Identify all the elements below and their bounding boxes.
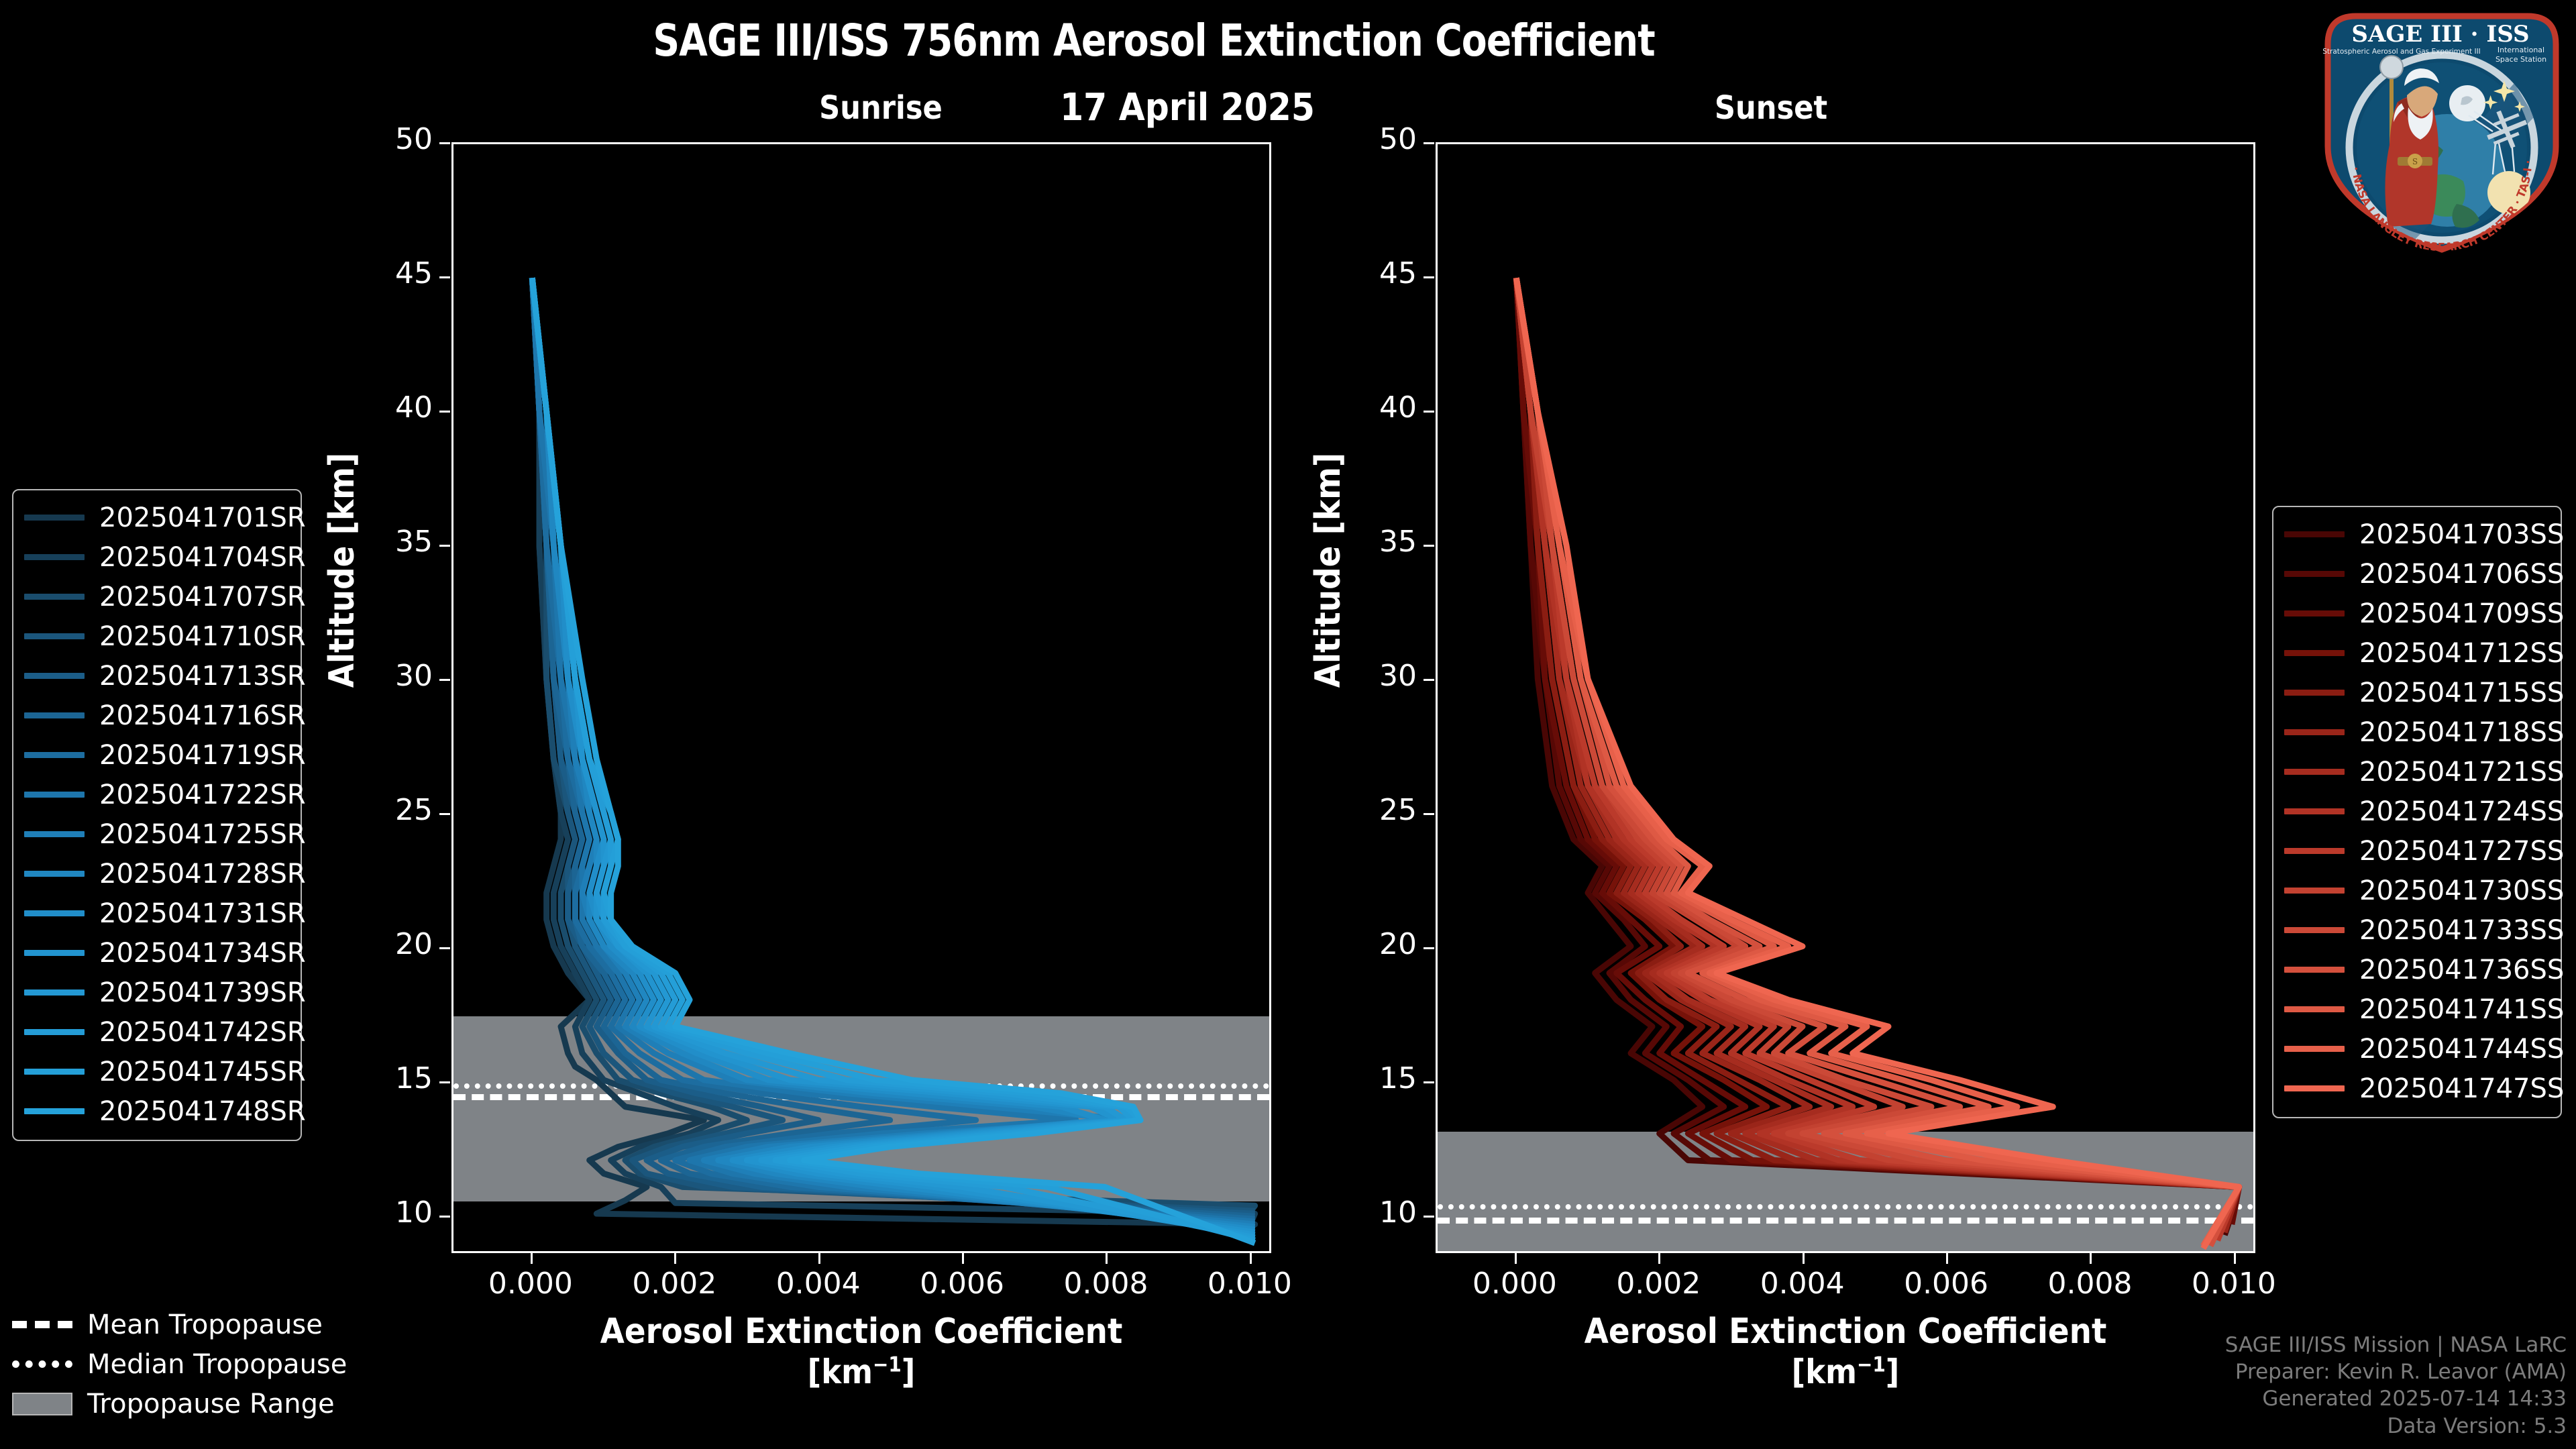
legend-item-tropopause-range: Tropopause Range [12, 1384, 361, 1424]
x-axis-tick-mark [1946, 1253, 1948, 1264]
legend-item-2025041742SR[interactable]: 2025041742SR [24, 1012, 290, 1052]
y-axis-tick-mark [439, 411, 450, 413]
x-axis-tick-mark [2090, 1253, 2092, 1264]
x-axis-tick-label: 0.008 [1032, 1267, 1179, 1301]
y-axis-tick-mark [1424, 142, 1434, 144]
x-axis-tick-label: 0.010 [1176, 1267, 1324, 1301]
y-axis-tick-label: 35 [1316, 525, 1417, 559]
y-axis-tick-mark [439, 1216, 450, 1218]
legend-item-2025041704SR[interactable]: 2025041704SR [24, 537, 290, 577]
profile-curves-sunset [1438, 144, 2253, 1251]
plot-area-sunset [1436, 142, 2255, 1253]
legend-item-2025041745SR[interactable]: 2025041745SR [24, 1052, 290, 1091]
patch-subtitle-right-line2: Space Station [2495, 55, 2546, 64]
y-axis-tick-label: 40 [332, 390, 433, 425]
x-axis-tick-label: 0.000 [457, 1267, 604, 1301]
legend-item-mean-tropopause: Mean Tropopause [12, 1305, 361, 1344]
line-color-swatch-icon [2284, 1085, 2345, 1091]
legend-item-2025041748SR[interactable]: 2025041748SR [24, 1091, 290, 1131]
legend-item-2025041701SR[interactable]: 2025041701SR [24, 498, 290, 537]
legend-label: 2025041713SR [99, 661, 306, 692]
plot-area-sunrise [451, 142, 1271, 1253]
credit-line-preparer: Preparer: Kevin R. Leavor (AMA) [2225, 1358, 2567, 1385]
x-axis-tick-mark [2234, 1253, 2236, 1264]
x-axis-tick-mark [1803, 1253, 1805, 1264]
legend-label: 2025041748SR [99, 1096, 306, 1127]
line-color-swatch-icon [24, 1029, 85, 1035]
y-axis-tick-mark [439, 545, 450, 547]
line-color-swatch-icon [24, 871, 85, 877]
line-color-swatch-icon [24, 673, 85, 679]
profile-line [1516, 278, 2239, 1243]
legend-label: 2025041706SS [2359, 559, 2564, 590]
line-color-swatch-icon [24, 752, 85, 758]
y-axis-tick-mark [1424, 947, 1434, 949]
x-axis-tick-mark [1658, 1253, 1660, 1264]
profile-line [1516, 278, 2239, 1227]
x-axis-unit: [km−1] [1436, 1352, 2255, 1392]
legend-label: 2025041703SS [2359, 519, 2564, 550]
curve-layer [453, 144, 1269, 1251]
y-axis-tick-label: 50 [1316, 122, 1417, 156]
line-color-swatch-icon [24, 831, 85, 837]
x-axis-tick-label: 0.002 [1585, 1267, 1732, 1301]
credit-line-data-version: Data Version: 5.3 [2225, 1413, 2567, 1440]
y-axis-tick-mark [1424, 679, 1434, 681]
y-axis-tick-mark [1424, 411, 1434, 413]
line-color-swatch-icon [24, 1108, 85, 1114]
line-color-swatch-icon [2284, 967, 2345, 973]
y-axis-tick-label: 10 [1316, 1195, 1417, 1230]
x-axis-unit: [km−1] [451, 1352, 1271, 1392]
legend-label: 2025041730SS [2359, 875, 2564, 906]
line-color-swatch-icon [2284, 1046, 2345, 1052]
panel-title-sunset: Sunset [1610, 89, 1932, 127]
legend-label: 2025041731SR [99, 898, 306, 929]
y-axis-tick-label: 20 [1316, 927, 1417, 961]
legend-label: 2025041719SR [99, 740, 306, 771]
legend-item-2025041703SS[interactable]: 2025041703SS [2284, 515, 2550, 554]
legend-label: 2025041716SR [99, 700, 306, 731]
y-axis-tick-label: 45 [1316, 256, 1417, 290]
y-axis-tick-mark [439, 1081, 450, 1083]
legend-item-2025041721SS[interactable]: 2025041721SS [2284, 752, 2550, 792]
y-axis-tick-label: 15 [1316, 1061, 1417, 1095]
legend-item-2025041724SS[interactable]: 2025041724SS [2284, 792, 2550, 831]
line-color-swatch-icon [24, 910, 85, 916]
legend-item-2025041710SR[interactable]: 2025041710SR [24, 616, 290, 656]
legend-item-2025041719SR[interactable]: 2025041719SR [24, 735, 290, 775]
legend-item-2025041733SS[interactable]: 2025041733SS [2284, 910, 2550, 950]
legend-item-2025041709SS[interactable]: 2025041709SS [2284, 594, 2550, 633]
profile-curves-sunrise [453, 144, 1269, 1251]
legend-label: 2025041741SS [2359, 994, 2564, 1025]
line-color-swatch-icon [24, 515, 85, 521]
line-color-swatch-icon [2284, 808, 2345, 814]
legend-item-2025041715SS[interactable]: 2025041715SS [2284, 673, 2550, 712]
legend-item-2025041739SR[interactable]: 2025041739SR [24, 973, 290, 1012]
y-axis-tick-label: 25 [1316, 793, 1417, 827]
line-color-swatch-icon [2284, 690, 2345, 696]
y-axis-tick-label: 50 [332, 122, 433, 156]
date-subtitle: 17 April 2025 [1040, 86, 1335, 129]
legend-label: 2025041709SS [2359, 598, 2564, 629]
x-axis-tick-label: 0.004 [1729, 1267, 1876, 1301]
y-axis-tick-label: 10 [332, 1195, 433, 1230]
x-axis-tick-label: 0.006 [1872, 1267, 2020, 1301]
x-axis-tick-label: 0.006 [888, 1267, 1036, 1301]
x-axis-tick-mark [1250, 1253, 1252, 1264]
x-axis-tick-mark [531, 1253, 533, 1264]
x-axis-tick-mark [1106, 1253, 1108, 1264]
legend-label: 2025041701SR [99, 502, 306, 533]
y-axis-tick-mark [439, 276, 450, 278]
x-axis-tick-label: 0.004 [745, 1267, 892, 1301]
legend-item-2025041731SR[interactable]: 2025041731SR [24, 894, 290, 933]
x-axis-tick-mark [674, 1253, 676, 1264]
legend-item-2025041747SS[interactable]: 2025041747SS [2284, 1069, 2550, 1108]
legend-item-2025041722SR[interactable]: 2025041722SR [24, 775, 290, 814]
patch-svg: S SAGE III · ISS Stratospheric Aerosol a… [2313, 3, 2571, 260]
line-color-swatch-icon [2284, 927, 2345, 933]
patch-title: SAGE III · ISS [2351, 21, 2529, 48]
line-color-swatch-icon [24, 554, 85, 560]
legend-item-2025041707SR[interactable]: 2025041707SR [24, 577, 290, 616]
line-color-swatch-icon [2284, 848, 2345, 854]
line-color-swatch-icon [2284, 531, 2345, 537]
legend-label: 2025041718SS [2359, 717, 2564, 748]
legend-label: 2025041710SR [99, 621, 306, 652]
legend-label: Median Tropopause [87, 1349, 347, 1380]
line-color-swatch-icon [2284, 729, 2345, 735]
line-color-swatch-icon [2284, 610, 2345, 616]
legend-label: 2025041712SS [2359, 638, 2564, 669]
legend-label: 2025041739SR [99, 977, 306, 1008]
line-color-swatch-icon [24, 594, 85, 600]
y-axis-tick-label: 25 [332, 793, 433, 827]
patch-subtitle-left: Stratospheric Aerosol and Gas Experiment… [2322, 48, 2481, 56]
legend-label: Mean Tropopause [87, 1309, 323, 1340]
profile-line [1516, 278, 2239, 1238]
y-axis-tick-mark [1424, 1216, 1434, 1218]
legend-item-2025041728SR[interactable]: 2025041728SR [24, 854, 290, 894]
y-axis-tick-mark [439, 679, 450, 681]
panel-title-sunrise: Sunrise [720, 89, 1042, 127]
legend-label: 2025041721SS [2359, 757, 2564, 788]
line-color-swatch-icon [24, 712, 85, 718]
legend-item-2025041725SR[interactable]: 2025041725SR [24, 814, 290, 854]
legend-label: Tropopause Range [87, 1389, 335, 1419]
legend-label: 2025041742SR [99, 1017, 306, 1048]
y-axis-tick-label: 40 [1316, 390, 1417, 425]
legend-item-2025041716SR[interactable]: 2025041716SR [24, 696, 290, 735]
dotted-line-swatch-icon [12, 1360, 72, 1368]
y-axis-tick-mark [1424, 545, 1434, 547]
y-axis-tick-mark [439, 813, 450, 815]
line-color-swatch-icon [2284, 1006, 2345, 1012]
y-axis-tick-mark [439, 142, 450, 144]
legend-label: 2025041724SS [2359, 796, 2564, 827]
x-axis-label-text: Aerosol Extinction Coefficient [451, 1311, 1271, 1352]
y-axis-tick-label: 20 [332, 927, 433, 961]
dashed-line-swatch-icon [12, 1321, 72, 1328]
credit-line-mission: SAGE III/ISS Mission | NASA LaRC [2225, 1332, 2567, 1358]
profile-line [1516, 278, 2239, 1248]
curve-layer [1438, 144, 2253, 1251]
legend-label: 2025041728SR [99, 859, 306, 890]
legend-item-2025041736SS[interactable]: 2025041736SS [2284, 950, 2550, 989]
legend-label: 2025041747SS [2359, 1073, 2564, 1104]
y-axis-tick-label: 30 [332, 659, 433, 693]
line-color-swatch-icon [2284, 888, 2345, 894]
legend-label: 2025041734SR [99, 938, 306, 969]
y-axis-tick-mark [439, 947, 450, 949]
line-color-swatch-icon [24, 1069, 85, 1075]
y-axis-tick-label: 35 [332, 525, 433, 559]
credits-block: SAGE III/ISS Mission | NASA LaRC Prepare… [2225, 1332, 2567, 1440]
band-swatch-icon [12, 1393, 72, 1415]
legend-label: 2025041725SR [99, 819, 306, 850]
legend-item-2025041734SR[interactable]: 2025041734SR [24, 933, 290, 973]
credit-line-generated: Generated 2025-07-14 14:33 [2225, 1385, 2567, 1412]
line-color-swatch-icon [24, 989, 85, 996]
x-axis-tick-label: 0.000 [1441, 1267, 1589, 1301]
x-axis-tick-mark [962, 1253, 964, 1264]
legend-item-2025041744SS[interactable]: 2025041744SS [2284, 1029, 2550, 1069]
legend-tropopause: Mean Tropopause Median Tropopause Tropop… [12, 1305, 361, 1424]
legend-label: 2025041744SS [2359, 1034, 2564, 1065]
legend-item-median-tropopause: Median Tropopause [12, 1344, 361, 1384]
legend-label: 2025041733SS [2359, 915, 2564, 946]
legend-label: 2025041722SR [99, 780, 306, 810]
legend-label: 2025041727SS [2359, 836, 2564, 867]
svg-text:S: S [2412, 157, 2418, 166]
legend-item-2025041741SS[interactable]: 2025041741SS [2284, 989, 2550, 1029]
legend-item-2025041730SS[interactable]: 2025041730SS [2284, 871, 2550, 910]
page-title: SAGE III/ISS 756nm Aerosol Extinction Co… [80, 15, 2226, 66]
legend-item-2025041718SS[interactable]: 2025041718SS [2284, 712, 2550, 752]
y-axis-tick-label: 30 [1316, 659, 1417, 693]
y-axis-tick-label: 45 [332, 256, 433, 290]
legend-label: 2025041715SS [2359, 678, 2564, 708]
legend-sunset: 2025041703SS2025041706SS2025041709SS2025… [2272, 506, 2562, 1118]
legend-label: 2025041707SR [99, 582, 306, 612]
line-color-swatch-icon [24, 950, 85, 956]
legend-item-2025041706SS[interactable]: 2025041706SS [2284, 554, 2550, 594]
legend-label: 2025041704SR [99, 542, 306, 573]
line-color-swatch-icon [2284, 650, 2345, 656]
x-axis-tick-mark [1515, 1253, 1517, 1264]
legend-item-2025041713SR[interactable]: 2025041713SR [24, 656, 290, 696]
legend-label: 2025041745SR [99, 1057, 306, 1087]
profile-line [1516, 278, 2239, 1219]
legend-item-2025041727SS[interactable]: 2025041727SS [2284, 831, 2550, 871]
legend-label: 2025041736SS [2359, 955, 2564, 985]
line-color-swatch-icon [24, 633, 85, 639]
x-axis-label-sunset: Aerosol Extinction Coefficient [km−1] [1436, 1311, 2255, 1392]
y-axis-tick-mark [1424, 813, 1434, 815]
x-axis-tick-label: 0.002 [600, 1267, 748, 1301]
y-axis-tick-mark [1424, 1081, 1434, 1083]
x-axis-tick-label: 0.008 [2016, 1267, 2163, 1301]
line-color-swatch-icon [24, 792, 85, 798]
legend-item-2025041712SS[interactable]: 2025041712SS [2284, 633, 2550, 673]
patch-subtitle-right-line1: International [2498, 46, 2544, 54]
sage-iii-iss-mission-patch-logo: S SAGE III · ISS Stratospheric Aerosol a… [2313, 3, 2571, 260]
line-color-swatch-icon [2284, 571, 2345, 577]
x-axis-tick-label: 0.010 [2160, 1267, 2308, 1301]
line-color-swatch-icon [2284, 769, 2345, 775]
legend-sunrise: 2025041701SR2025041704SR2025041707SR2025… [12, 489, 302, 1141]
y-axis-tick-label: 15 [332, 1061, 433, 1095]
y-axis-tick-mark [1424, 276, 1434, 278]
x-axis-label-sunrise: Aerosol Extinction Coefficient [km−1] [451, 1311, 1271, 1392]
x-axis-tick-mark [818, 1253, 820, 1264]
x-axis-label-text: Aerosol Extinction Coefficient [1436, 1311, 2255, 1352]
